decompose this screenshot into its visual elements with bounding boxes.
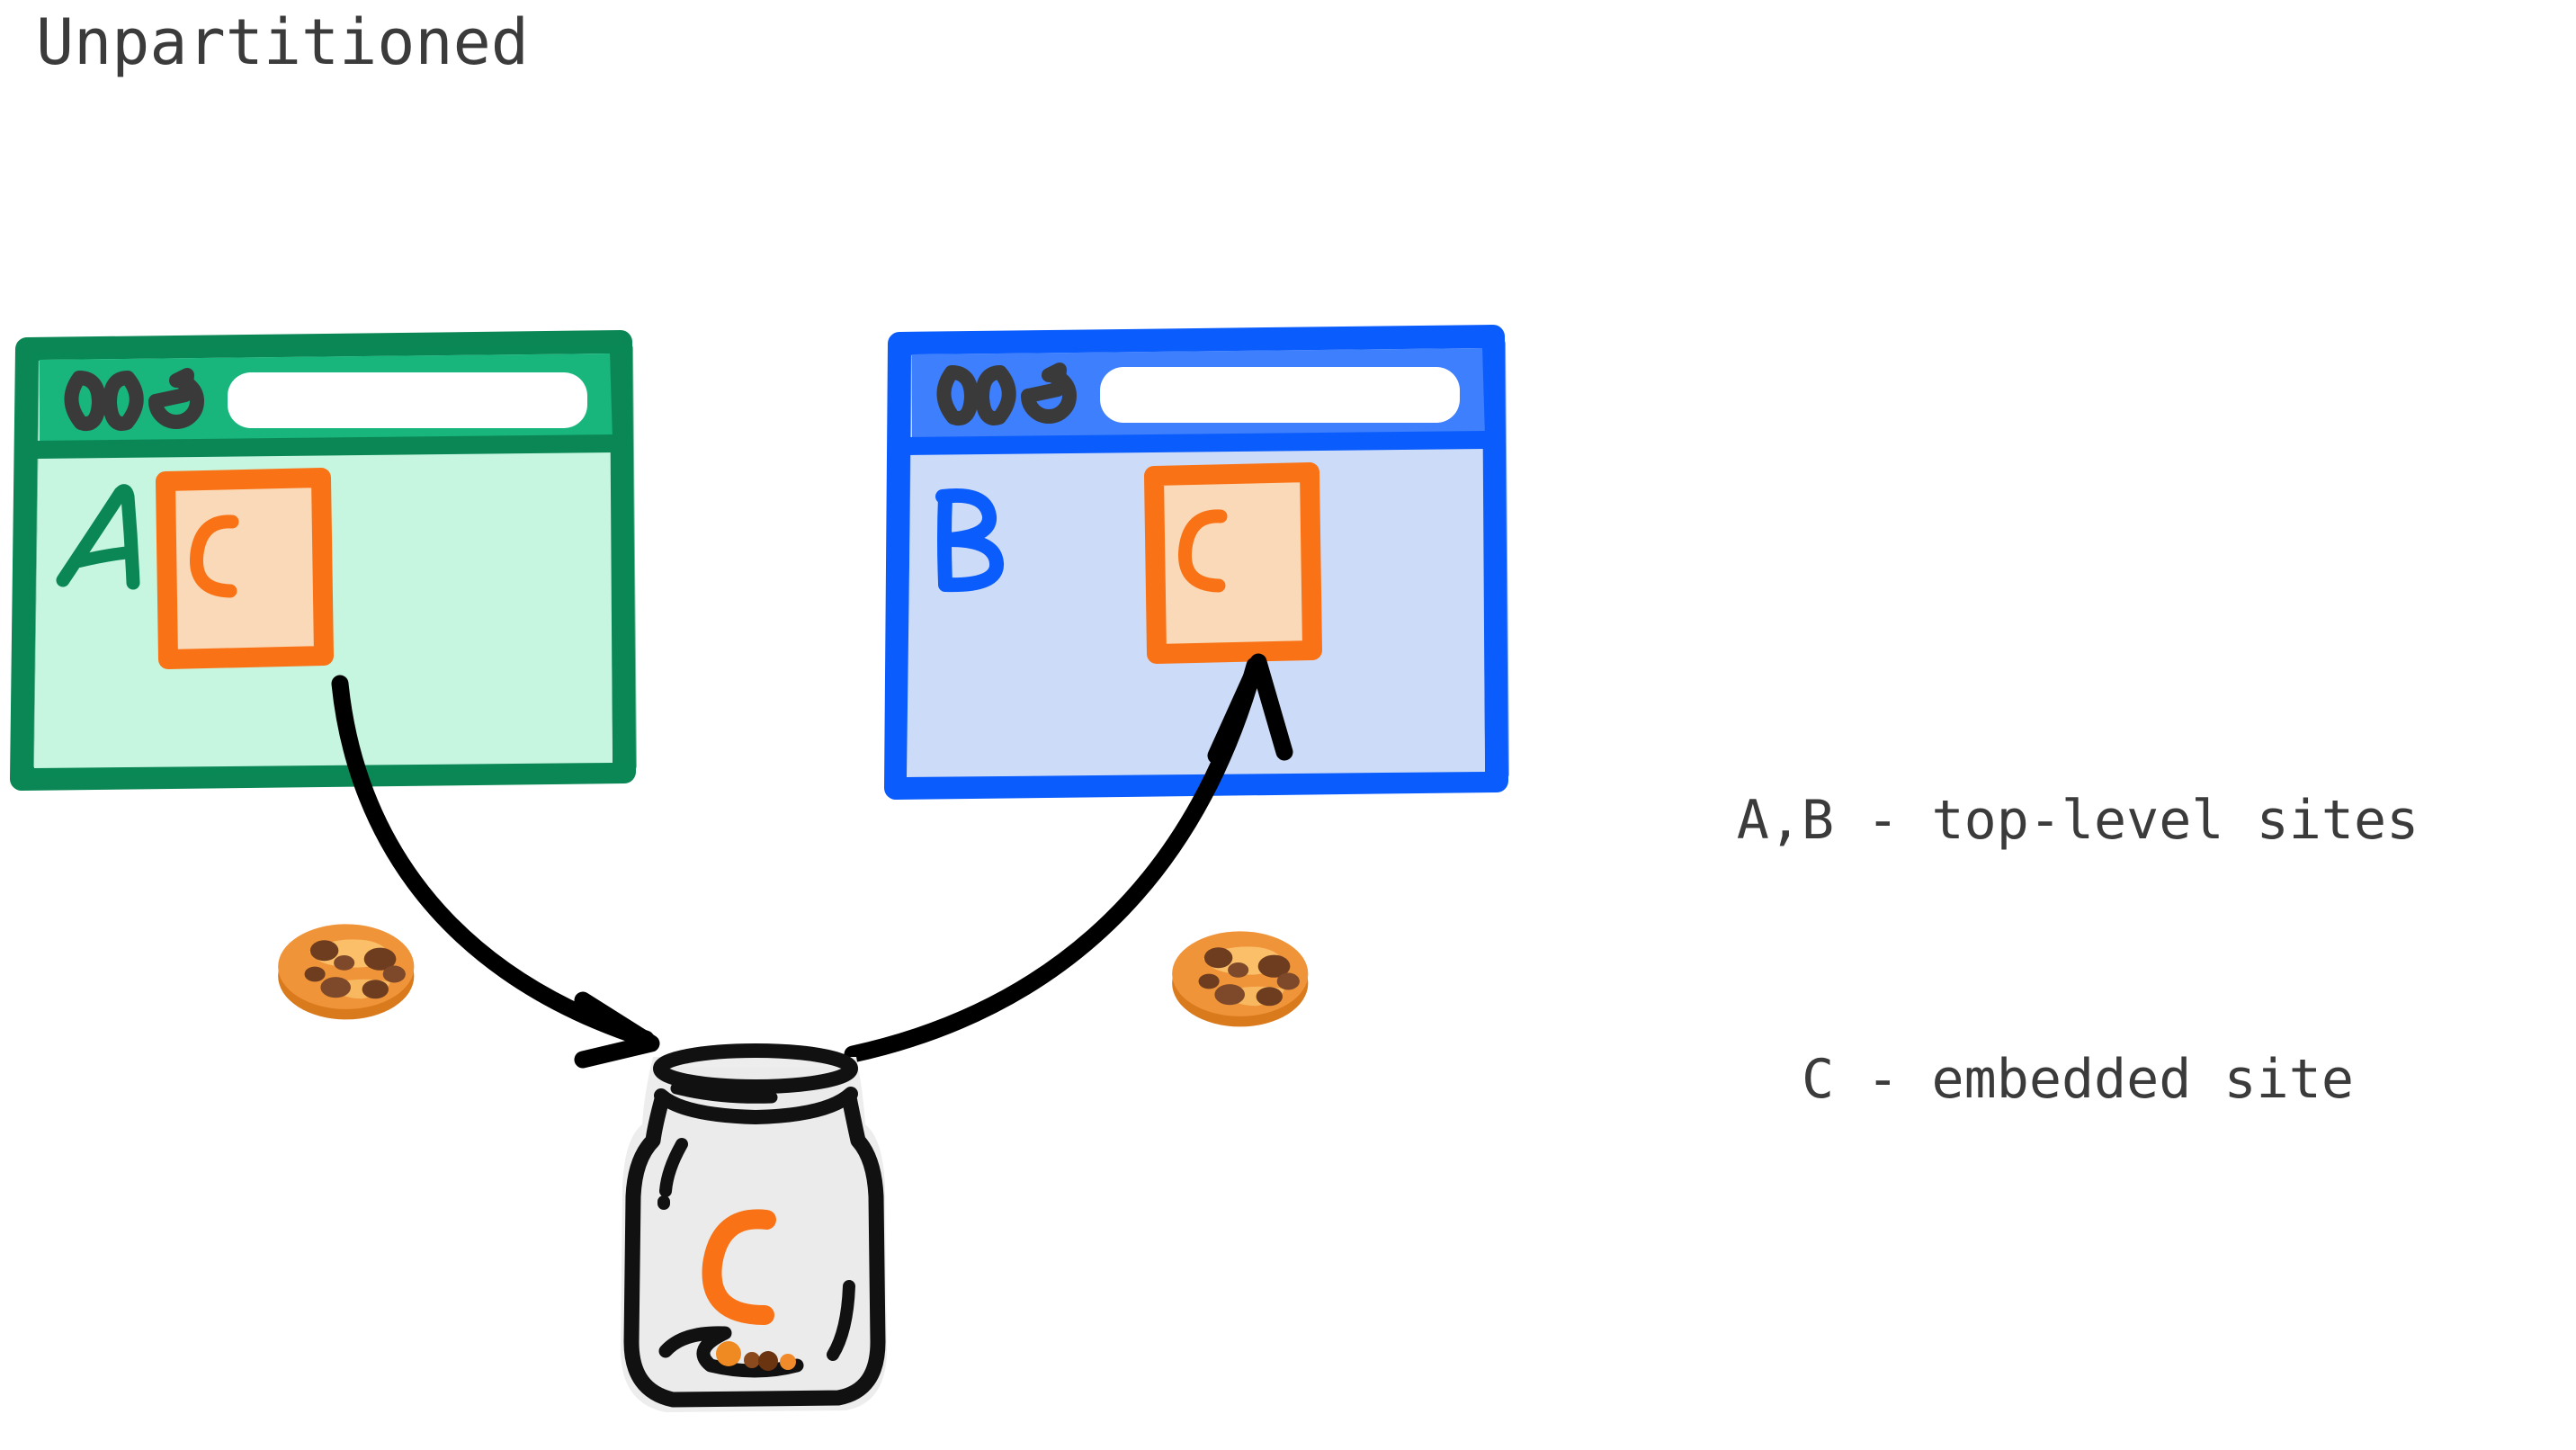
cookie-right (1172, 931, 1308, 1026)
window-a-url-bar[interactable] (228, 372, 587, 428)
chip (320, 977, 351, 998)
chip (1204, 947, 1233, 968)
chip (383, 966, 406, 983)
arrow-a-to-jar-head (583, 1000, 651, 1060)
cookie-left (278, 924, 414, 1019)
diagram-graphics: A C B (0, 0, 2576, 1450)
chip (1199, 974, 1220, 989)
chip (1257, 987, 1283, 1006)
window-a-toolbar-separator (34, 443, 615, 450)
chip (1228, 962, 1248, 978)
cookie-jar-crumb (716, 1341, 741, 1366)
chip (310, 940, 339, 961)
chip (334, 955, 354, 971)
cookie-jar-crumb (780, 1354, 796, 1370)
window-b[interactable]: B C (896, 336, 1506, 788)
chip (305, 967, 326, 982)
embedded-frame-a[interactable]: C (165, 478, 324, 659)
window-b-url-bar[interactable] (1100, 367, 1460, 423)
cookie-jar-crumb (744, 1352, 760, 1368)
chip (1277, 973, 1300, 990)
diagram-canvas: Unpartitioned A,B - top-level sites C - … (0, 0, 2576, 1450)
cookie-jar: C (621, 1051, 887, 1412)
cookie-jar-crumb (758, 1351, 778, 1371)
chip (1214, 984, 1245, 1005)
window-b-toolbar-separator (907, 440, 1488, 446)
window-a[interactable]: A C (22, 342, 633, 779)
chip (362, 980, 389, 998)
embedded-frame-b[interactable]: C (1154, 472, 1312, 654)
